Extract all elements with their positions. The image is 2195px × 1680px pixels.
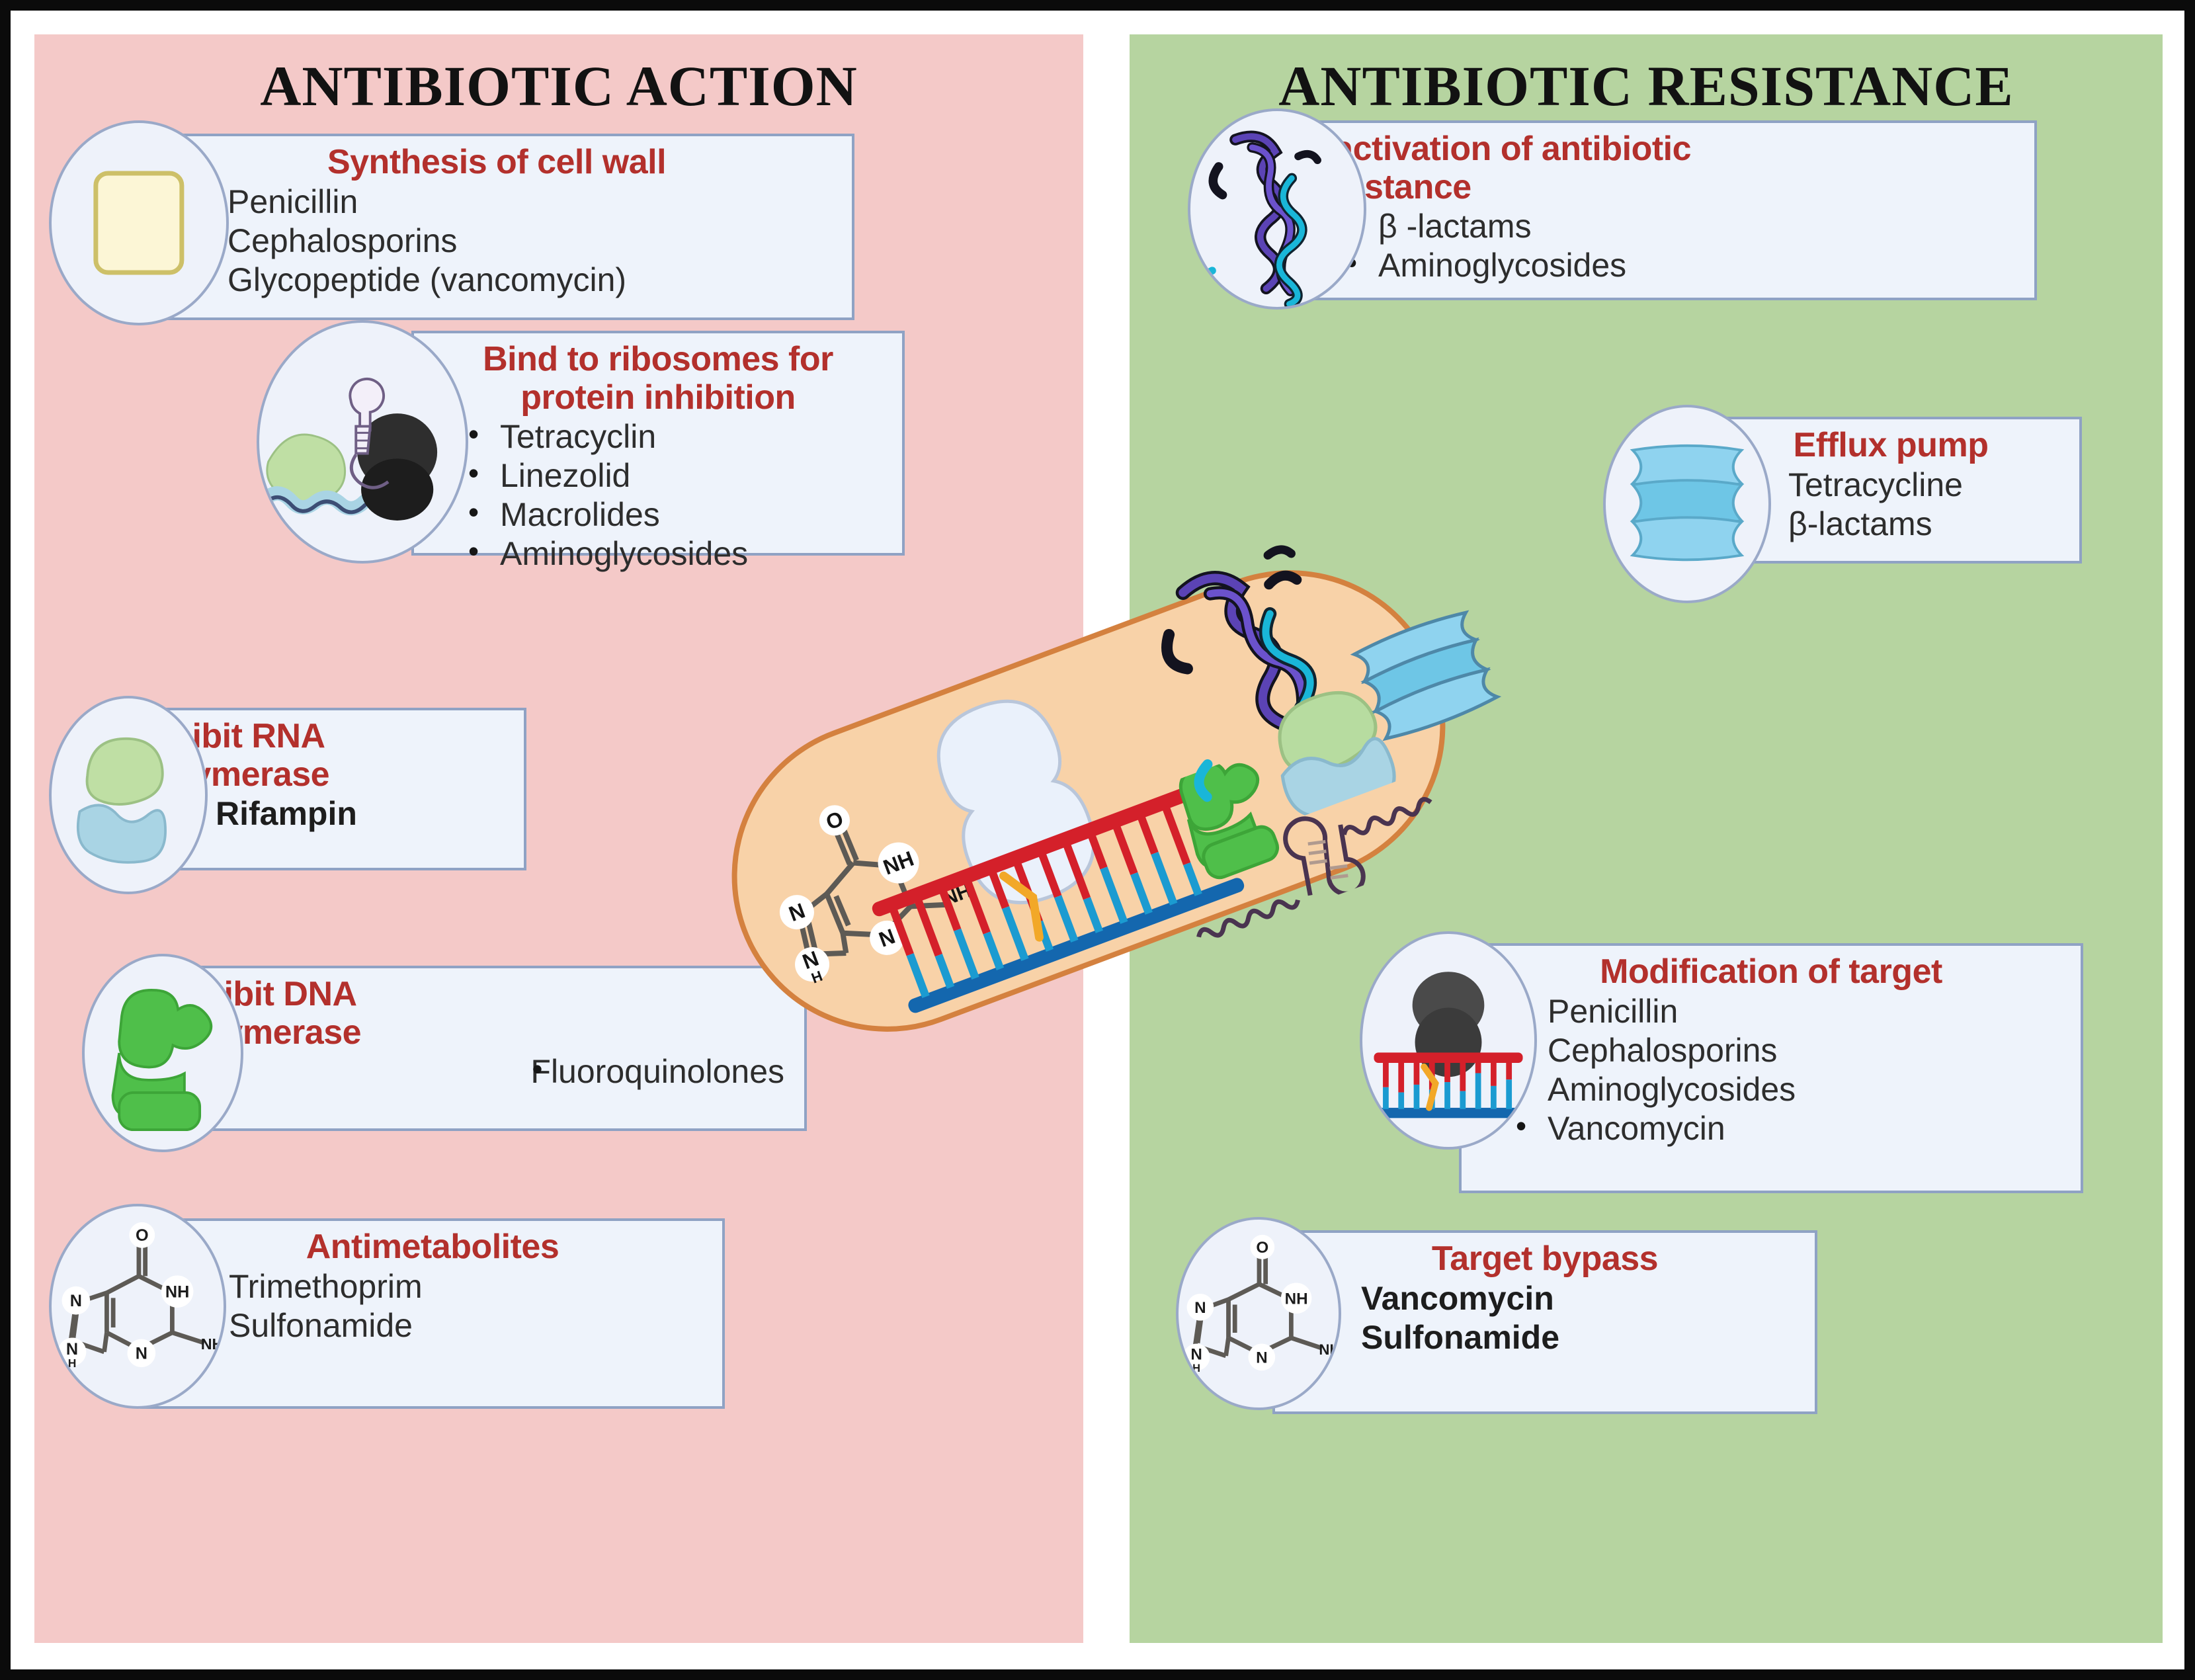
svg-text:O: O	[136, 1226, 149, 1245]
figure-canvas: ANTIBIOTIC ACTION Synthesis of cell wall…	[0, 0, 2195, 1680]
guanine-molecule-icon: O NH N N NH NH	[52, 1206, 224, 1406]
cell-wall-icon-bubble	[49, 120, 229, 325]
svg-text:NH: NH	[1319, 1341, 1339, 1358]
list-item: Penicillin	[1473, 992, 2069, 1031]
card-body-synthesis-of-cell-wall: Synthesis of cell wall Penicillin Cephal…	[139, 134, 854, 320]
card-heading-line2: polymerase	[173, 1015, 792, 1052]
card-heading: Modification of target	[1473, 954, 2069, 991]
card-heading: Synthesis of cell wall	[153, 144, 840, 181]
list-item: Aminoglycosides	[426, 534, 890, 573]
rna-polymerase-icon-bubble	[49, 696, 208, 894]
guanine-molecule-icon-bubble-right: O NH N N NH NH	[1176, 1217, 1341, 1410]
card-body-inactivation-of-antibiotic-substance: Inactivation of antibiotic substance β -…	[1290, 120, 2037, 300]
svg-text:H: H	[1192, 1363, 1200, 1374]
cell-wall-icon	[93, 171, 184, 274]
card-heading-line2: protein inhibition	[426, 380, 890, 417]
list-item: Cephalosporins	[1473, 1031, 2069, 1070]
list-item: Fluoroquinolones	[489, 1052, 784, 1091]
dna-ribosome-target-icon	[1362, 934, 1534, 1147]
list-item: Vancomycin	[1473, 1109, 2069, 1148]
list-item: Linezolid	[426, 456, 890, 495]
card-list: β -lactams Aminoglycosides	[1304, 207, 2022, 285]
guanine-molecule-icon: O NH N N NH NH	[1179, 1220, 1339, 1407]
list-item: Tetracyclin	[426, 417, 890, 456]
card-heading-line1: Inactivation of antibiotic	[1304, 131, 2022, 168]
svg-text:O: O	[1256, 1239, 1268, 1257]
svg-text:N: N	[1194, 1299, 1206, 1317]
guanine-molecule-icon-bubble-left: O NH N N NH NH	[49, 1204, 226, 1409]
card-list: Tetracyclin Linezolid Macrolides Aminogl…	[426, 417, 890, 573]
list-item: Macrolides	[426, 495, 890, 534]
card-list: Penicillin Cephalosporins Glycopeptide (…	[153, 183, 840, 300]
card-heading-line2: substance	[1304, 169, 2022, 206]
svg-text:NH: NH	[165, 1282, 189, 1301]
svg-text:NH: NH	[201, 1335, 224, 1353]
list-item: Aminoglycosides	[1304, 246, 2022, 285]
svg-text:N: N	[1256, 1349, 1267, 1367]
card-list: Vancomycin Sulfonamide	[1287, 1279, 1803, 1357]
beta-lactamase-ribbon-icon-bubble	[1188, 108, 1366, 310]
card-body-inhibit-dna-polymerase: Inhibit DNA polymerase Fluoroquinolones	[159, 966, 807, 1131]
list-item: Glycopeptide (vancomycin)	[153, 261, 840, 300]
dna-polymerase-icon	[85, 956, 241, 1150]
beta-lactamase-ribbon-icon	[1190, 111, 1364, 307]
svg-text:N: N	[1190, 1346, 1202, 1364]
list-item: Sulfonamide	[1287, 1318, 1803, 1357]
card-body-target-bypass: Target bypass Vancomycin Sulfonamide	[1272, 1230, 1817, 1414]
list-item: Trimethoprim	[155, 1267, 710, 1306]
card-heading-line1: Inhibit DNA	[173, 976, 792, 1013]
card-body-modification-of-target: Modification of target Penicillin Cephal…	[1459, 943, 2083, 1193]
rna-polymerase-icon	[52, 698, 205, 892]
dna-ribosome-target-icon-bubble	[1360, 931, 1537, 1150]
card-list: Trimethoprim Sulfonamide	[155, 1267, 710, 1345]
card-list: Fluoroquinolones	[173, 1052, 792, 1091]
card-heading: Antimetabolites	[155, 1229, 710, 1266]
svg-text:NH: NH	[1285, 1290, 1308, 1308]
list-item: Aminoglycosides	[1473, 1070, 2069, 1109]
card-heading: Target bypass	[1287, 1241, 1803, 1278]
list-item: β -lactams	[1304, 207, 2022, 246]
card-body-bind-to-ribosomes: Bind to ribosomes for protein inhibition…	[411, 331, 905, 556]
svg-text:H: H	[68, 1357, 77, 1370]
list-item: Penicillin	[153, 183, 840, 222]
svg-text:N: N	[136, 1345, 147, 1363]
svg-text:N: N	[66, 1340, 78, 1359]
card-heading-line1: Bind to ribosomes for	[426, 341, 890, 378]
card-list: Penicillin Cephalosporins Aminoglycoside…	[1473, 992, 2069, 1148]
panel-title-antibiotic-action: ANTIBIOTIC ACTION	[34, 53, 1083, 119]
efflux-pump-icon-bubble	[1603, 405, 1771, 603]
list-item: Sulfonamide	[155, 1306, 710, 1345]
svg-text:N: N	[70, 1292, 82, 1310]
list-item: Vancomycin	[1287, 1279, 1803, 1318]
ribosome-mrna-icon-bubble	[257, 320, 468, 564]
list-item: Cephalosporins	[153, 222, 840, 261]
efflux-pump-icon	[1606, 407, 1768, 601]
dna-polymerase-icon-bubble	[82, 954, 243, 1152]
ribosome-mrna-icon	[259, 323, 466, 561]
card-body-antimetabolites: Antimetabolites Trimethoprim Sulfonamide	[140, 1218, 725, 1409]
